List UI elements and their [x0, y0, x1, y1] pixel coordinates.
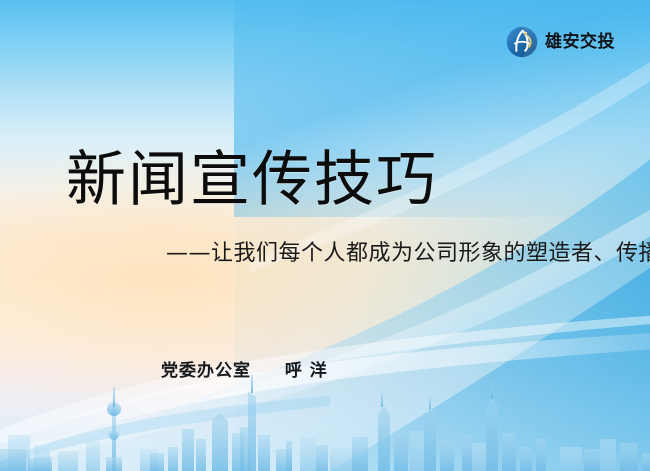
slide-subtitle: ——让我们每个人都成为公司形象的塑造者、传播者: [166, 240, 650, 268]
presenter-line: 党委办公室 呼 洋: [161, 356, 328, 381]
presenter-department: 党委办公室: [161, 361, 251, 381]
brand-logo: 雄安交投: [506, 26, 615, 58]
presenter-name: 呼 洋: [285, 361, 328, 381]
xiongan-jiaotou-globe-logo-icon: [506, 26, 538, 58]
slide-title: 新闻宣传技巧: [66, 150, 438, 210]
brand-name: 雄安交投: [545, 34, 615, 51]
title-slide: 雄安交投 新闻宣传技巧 ——让我们每个人都成为公司形象的塑造者、传播者 党委办公…: [0, 0, 650, 471]
